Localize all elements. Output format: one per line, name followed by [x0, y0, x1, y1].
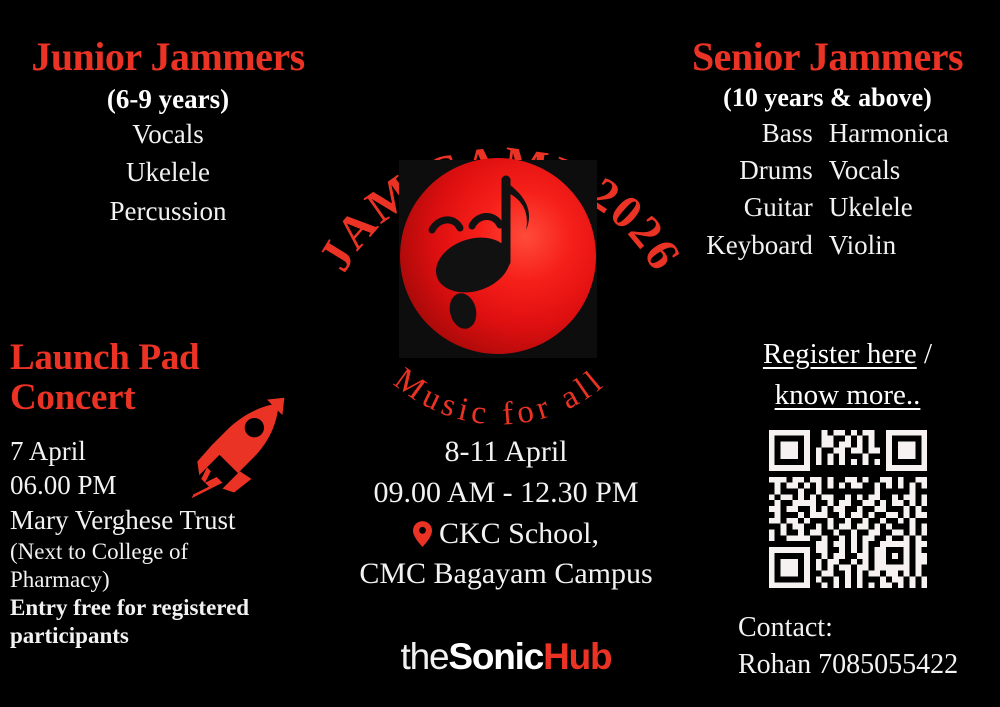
- register-slash: /: [917, 338, 932, 370]
- junior-jammers-section: Junior Jammers (6-9 years) Vocals Ukelel…: [0, 36, 336, 230]
- qr-code[interactable]: [763, 424, 933, 594]
- launch-pad-entry-note-line1: Entry free for registered: [10, 594, 310, 623]
- junior-instrument-item: Percussion: [0, 192, 336, 230]
- location-pin-icon: [413, 521, 432, 547]
- camp-venue-line1: CKC School,: [439, 514, 599, 555]
- launch-pad-concert-section: Launch Pad Concert 7 April 06.0: [10, 338, 310, 651]
- launch-pad-heading-line1: Launch Pad: [10, 338, 310, 378]
- senior-instrument-item: Violin: [829, 227, 896, 264]
- senior-jammers-heading: Senior Jammers: [655, 36, 1000, 78]
- contact-label: Contact:: [738, 610, 995, 646]
- brand-sonic: Sonic: [448, 636, 543, 677]
- senior-instrument-item: Ukelele: [829, 189, 913, 226]
- jam-camp-logo: JAM CAMP 2026 Music for all: [320, 72, 680, 412]
- jam-camp-poster: Junior Jammers (6-9 years) Vocals Ukelel…: [0, 0, 1000, 707]
- logo-arc-bottom-textpath: Music for all: [387, 361, 612, 433]
- senior-instruments-column-left: Bass Drums Guitar Keyboard: [706, 115, 812, 264]
- junior-instrument-item: Ukelele: [0, 153, 336, 191]
- register-section: Register here / know more..: [700, 334, 995, 683]
- launch-pad-venue-note-line1: (Next to College of: [10, 538, 310, 566]
- contact-value: Rohan 7085055422: [738, 647, 995, 683]
- senior-instrument-item: Guitar: [744, 189, 813, 226]
- rocket-icon: [178, 390, 294, 506]
- logo-arc-bottom-text: Music for all: [387, 361, 612, 433]
- camp-venue-line1-row: CKC School,: [316, 514, 696, 555]
- senior-instrument-item: Drums: [739, 152, 813, 189]
- junior-jammers-heading: Junior Jammers: [0, 36, 336, 78]
- launch-pad-venue: Mary Verghese Trust: [10, 503, 310, 538]
- senior-instrument-item: Keyboard: [706, 227, 812, 264]
- camp-venue-line2: CMC Bagayam Campus: [316, 554, 696, 595]
- register-here-link[interactable]: Register here: [763, 338, 917, 370]
- junior-instrument-item: Vocals: [0, 115, 336, 153]
- junior-jammers-age-range: (6-9 years): [0, 84, 336, 115]
- camp-schedule-section: 8-11 April 09.00 AM - 12.30 PM CKC Schoo…: [316, 432, 696, 595]
- sonic-hub-wordmark: theSonicHub: [316, 636, 696, 678]
- launch-pad-venue-note-line2: Pharmacy): [10, 566, 310, 594]
- senior-instrument-item: Vocals: [829, 152, 901, 189]
- senior-instruments-column-right: Harmonica Vocals Ukelele Violin: [829, 115, 949, 264]
- register-here-line[interactable]: Register here /: [700, 334, 995, 375]
- contact-info: Contact: Rohan 7085055422: [700, 610, 995, 683]
- music-note-face-icon: [400, 158, 596, 354]
- camp-time: 09.00 AM - 12.30 PM: [316, 473, 696, 514]
- senior-instrument-item: Bass: [762, 115, 813, 152]
- know-more-link[interactable]: know more..: [775, 379, 921, 411]
- brand-the: the: [401, 636, 449, 677]
- senior-instrument-item: Harmonica: [829, 115, 949, 152]
- senior-instruments-list: Bass Drums Guitar Keyboard Harmonica Voc…: [655, 115, 1000, 264]
- know-more-line[interactable]: know more..: [700, 375, 995, 416]
- senior-jammers-age-range: (10 years & above): [655, 83, 1000, 113]
- camp-dates: 8-11 April: [316, 432, 696, 473]
- launch-pad-entry-note-line2: participants: [10, 622, 310, 651]
- senior-jammers-section: Senior Jammers (10 years & above) Bass D…: [655, 36, 1000, 264]
- brand-hub: Hub: [543, 636, 611, 677]
